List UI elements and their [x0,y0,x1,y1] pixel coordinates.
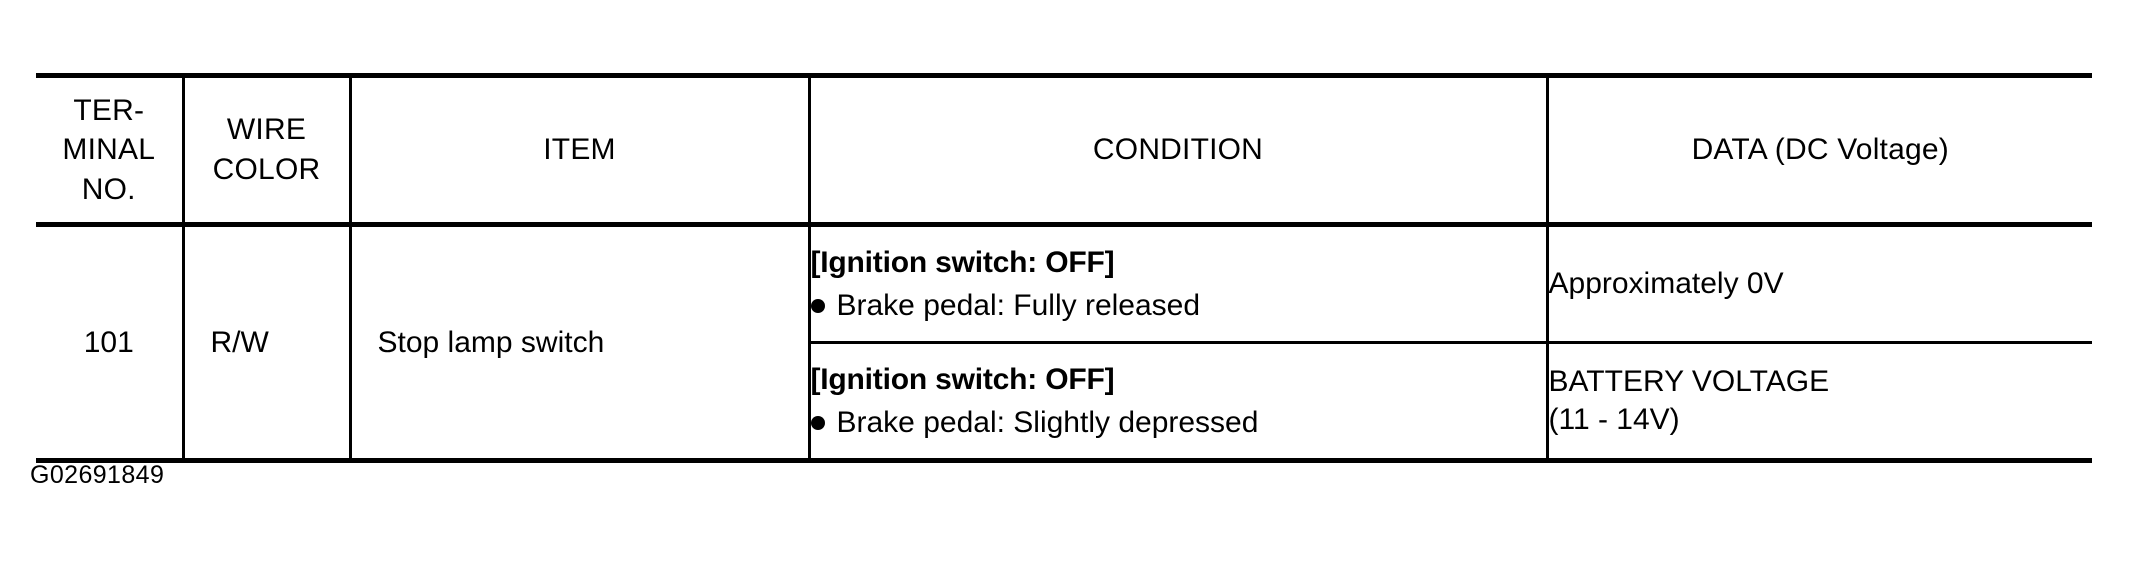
data-line-2b: (11 - 14V) [1549,401,2093,439]
condition-subrow-2: [Ignition switch: OFF] Brake pedal: Slig… [811,343,1546,459]
data-subrow-1: Approximately 0V [1549,227,2093,343]
condition-bullet-text-1: Brake pedal: Fully released [837,289,1201,322]
terminal-data-table: TER- MINAL NO. WIRE COLOR ITEM CONDITION… [36,73,2092,463]
condition-bullet-2: Brake pedal: Slightly depressed [811,408,1546,438]
condition-bullet-1: Brake pedal: Fully released [811,291,1546,321]
data-line-1a: Approximately 0V [1549,265,2093,303]
table-body: 101 R/W Stop lamp switch [Ignition switc… [36,225,2092,461]
data-subtable: Approximately 0V BATTERY VOLTAGE (11 - 1… [1549,227,2093,458]
cell-terminal-no: 101 [36,225,183,461]
data-cell-2: BATTERY VOLTAGE (11 - 14V) [1549,343,2093,459]
condition-bullet-text-2: Brake pedal: Slightly depressed [837,406,1259,439]
column-header-wire-color: WIRE COLOR [183,76,350,225]
terminal-no-line-2: MINAL [62,133,155,166]
column-header-terminal-no: TER- MINAL NO. [36,76,183,225]
cell-wire-color: R/W [183,225,350,461]
document-page: TER- MINAL NO. WIRE COLOR ITEM CONDITION… [0,0,2129,569]
condition-subtable: [Ignition switch: OFF] Brake pedal: Full… [811,227,1546,458]
bullet-dot-icon [811,416,825,430]
column-header-data: DATA (DC Voltage) [1547,76,2092,225]
terminal-no-line-1: TER- [73,94,144,127]
condition-title-1: [Ignition switch: OFF] [811,248,1546,278]
data-line-2a: BATTERY VOLTAGE [1549,363,2093,401]
condition-subrow-1: [Ignition switch: OFF] Brake pedal: Full… [811,227,1546,343]
cell-data-group: Approximately 0V BATTERY VOLTAGE (11 - 1… [1547,225,2092,461]
cell-condition-group: [Ignition switch: OFF] Brake pedal: Full… [809,225,1547,461]
terminal-no-line-3: NO. [82,173,136,206]
cell-item: Stop lamp switch [350,225,809,461]
condition-title-2: [Ignition switch: OFF] [811,365,1546,395]
condition-cell-1: [Ignition switch: OFF] Brake pedal: Full… [811,227,1546,343]
data-subrow-2: BATTERY VOLTAGE (11 - 14V) [1549,343,2093,459]
table-header: TER- MINAL NO. WIRE COLOR ITEM CONDITION… [36,76,2092,225]
header-row: TER- MINAL NO. WIRE COLOR ITEM CONDITION… [36,76,2092,225]
bullet-dot-icon [811,299,825,313]
condition-cell-2: [Ignition switch: OFF] Brake pedal: Slig… [811,343,1546,459]
column-header-condition: CONDITION [809,76,1547,225]
table-row: 101 R/W Stop lamp switch [Ignition switc… [36,225,2092,461]
figure-id-caption: G02691849 [30,461,164,490]
wire-color-line-1: WIRE [227,113,306,146]
wire-color-line-2: COLOR [213,153,321,186]
column-header-item: ITEM [350,76,809,225]
data-cell-1: Approximately 0V [1549,227,2093,343]
